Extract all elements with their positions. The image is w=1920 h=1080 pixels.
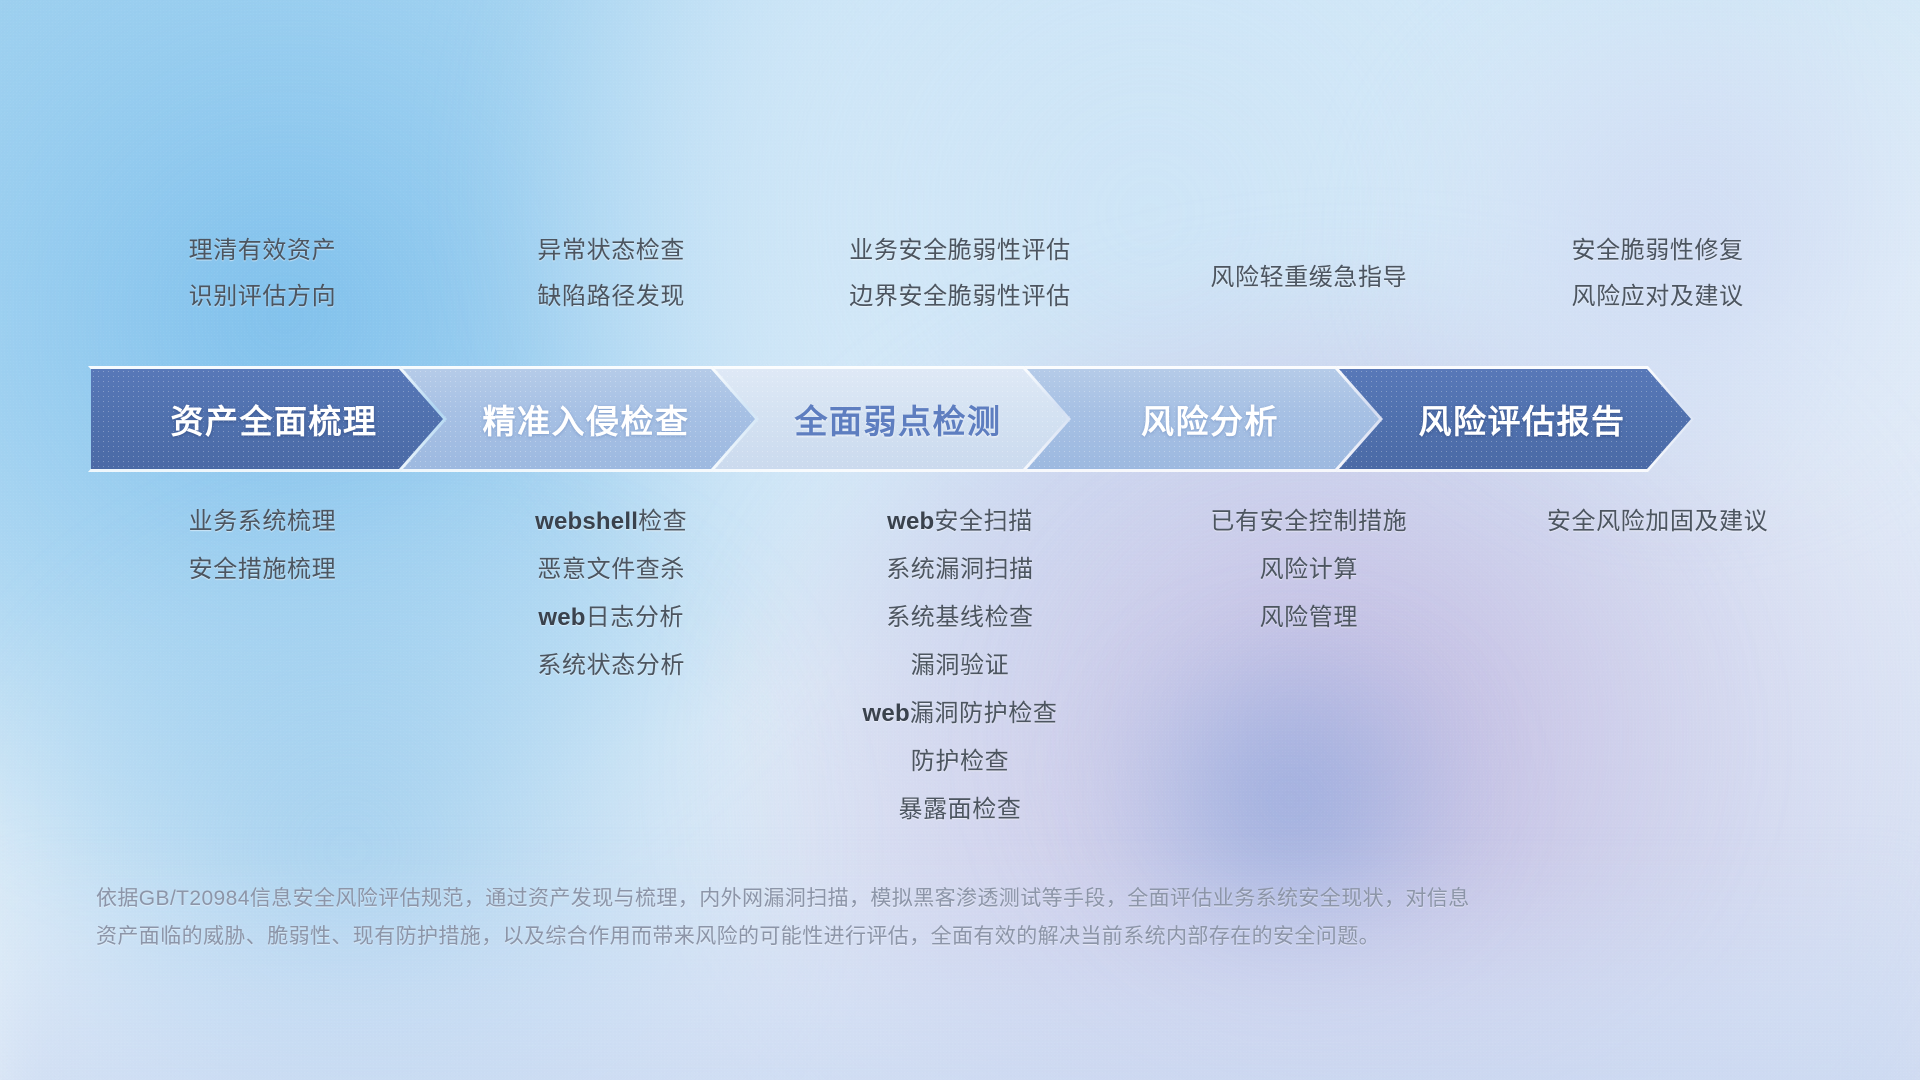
chevron-title: 全面弱点检测 xyxy=(712,366,1070,472)
chevron-stage-1[interactable]: 资产全面梳理 xyxy=(88,366,446,472)
stage-output-item: web日志分析 xyxy=(538,594,684,642)
chevron-title: 风险评估报告 xyxy=(1336,366,1694,472)
chevron-title: 精准入侵检查 xyxy=(400,366,758,472)
stage-output-keyword: web xyxy=(863,700,910,727)
stage-outputs: 已有安全控制措施风险计算风险管理 xyxy=(1134,498,1483,642)
stage-outputs: webshell检查恶意文件查杀web日志分析系统状态分析 xyxy=(437,498,786,690)
stage-output-item: 风险计算 xyxy=(1260,546,1358,594)
stage-outputs: web安全扫描系统漏洞扫描系统基线检查漏洞验证web漏洞防护检查防护检查暴露面检… xyxy=(786,498,1135,834)
stage-output-item: web安全扫描 xyxy=(887,498,1033,546)
stage-input-label: 风险轻重缓急指导 xyxy=(1210,255,1407,301)
stage-input-label: 业务安全脆弱性评估 xyxy=(849,228,1070,274)
stage-outputs: 业务系统梳理安全措施梳理 xyxy=(88,498,437,594)
chevron-stage-2[interactable]: 精准入侵检查 xyxy=(400,366,758,472)
stage-output-keyword: web xyxy=(538,604,585,631)
chevron-stage-4[interactable]: 风险分析 xyxy=(1024,366,1382,472)
stage-inputs: 理清有效资产识别评估方向 xyxy=(88,228,437,328)
footer-description: 依据GB/T20984信息安全风险评估规范，通过资产发现与梳理，内外网漏洞扫描，… xyxy=(96,880,1596,956)
stage-input-label: 理清有效资产 xyxy=(189,228,337,274)
stage-output-item: webshell检查 xyxy=(535,498,687,546)
chevron-stage-5[interactable]: 风险评估报告 xyxy=(1336,366,1694,472)
stage-output-keyword: web xyxy=(887,508,934,535)
stage-input-label: 识别评估方向 xyxy=(189,274,337,320)
stage-output-text: 日志分析 xyxy=(586,604,684,631)
stage-output-item: web漏洞防护检查 xyxy=(863,690,1058,738)
stage-inputs: 业务安全脆弱性评估边界安全脆弱性评估 xyxy=(786,228,1135,328)
stage-output-item: 已有安全控制措施 xyxy=(1210,498,1407,546)
stage-input-label: 异常状态检查 xyxy=(537,228,685,274)
stage-output-item: 漏洞验证 xyxy=(911,642,1009,690)
stage-input-label: 缺陷路径发现 xyxy=(537,274,685,320)
stage-output-item: 防护检查 xyxy=(911,738,1009,786)
stage-output-item: 系统漏洞扫描 xyxy=(886,546,1034,594)
stage-output-item: 系统状态分析 xyxy=(537,642,685,690)
stage-output-item: 安全风险加固及建议 xyxy=(1547,498,1768,546)
stage-output-item: 暴露面检查 xyxy=(898,786,1021,834)
stage-input-label: 风险应对及建议 xyxy=(1571,274,1743,320)
chevron-title: 风险分析 xyxy=(1024,366,1382,472)
stage-output-keyword: webshell xyxy=(535,508,638,535)
stage-inputs: 风险轻重缓急指导 xyxy=(1134,228,1483,328)
stage-input-label: 安全脆弱性修复 xyxy=(1571,228,1743,274)
stage-output-item: 风险管理 xyxy=(1260,594,1358,642)
footer-line-1: 依据GB/T20984信息安全风险评估规范，通过资产发现与梳理，内外网漏洞扫描，… xyxy=(96,880,1596,918)
stage-output-item: 系统基线检查 xyxy=(886,594,1034,642)
stage-outputs: 安全风险加固及建议 xyxy=(1483,498,1832,546)
stage-inputs: 异常状态检查缺陷路径发现 xyxy=(437,228,786,328)
stage-output-text: 检查 xyxy=(638,508,687,535)
footer-line-2: 资产面临的威胁、脆弱性、现有防护措施，以及综合作用而带来风险的可能性进行评估，全… xyxy=(96,918,1596,956)
chevron-band: 资产全面梳理精准入侵检查全面弱点检测风险分析风险评估报告 xyxy=(88,366,1832,472)
chevron-title: 资产全面梳理 xyxy=(88,366,446,472)
stage-output-text: 安全扫描 xyxy=(934,508,1032,535)
stage-output-item: 业务系统梳理 xyxy=(189,498,337,546)
chevron-stage-3[interactable]: 全面弱点检测 xyxy=(712,366,1070,472)
stage-output-text: 漏洞防护检查 xyxy=(910,700,1058,727)
stage-output-item: 安全措施梳理 xyxy=(189,546,337,594)
stage-output-item: 恶意文件查杀 xyxy=(537,546,685,594)
process-diagram: 理清有效资产识别评估方向业务系统梳理安全措施梳理异常状态检查缺陷路径发现webs… xyxy=(0,0,1920,1080)
stage-inputs: 安全脆弱性修复风险应对及建议 xyxy=(1483,228,1832,328)
stage-input-label: 边界安全脆弱性评估 xyxy=(849,274,1070,320)
